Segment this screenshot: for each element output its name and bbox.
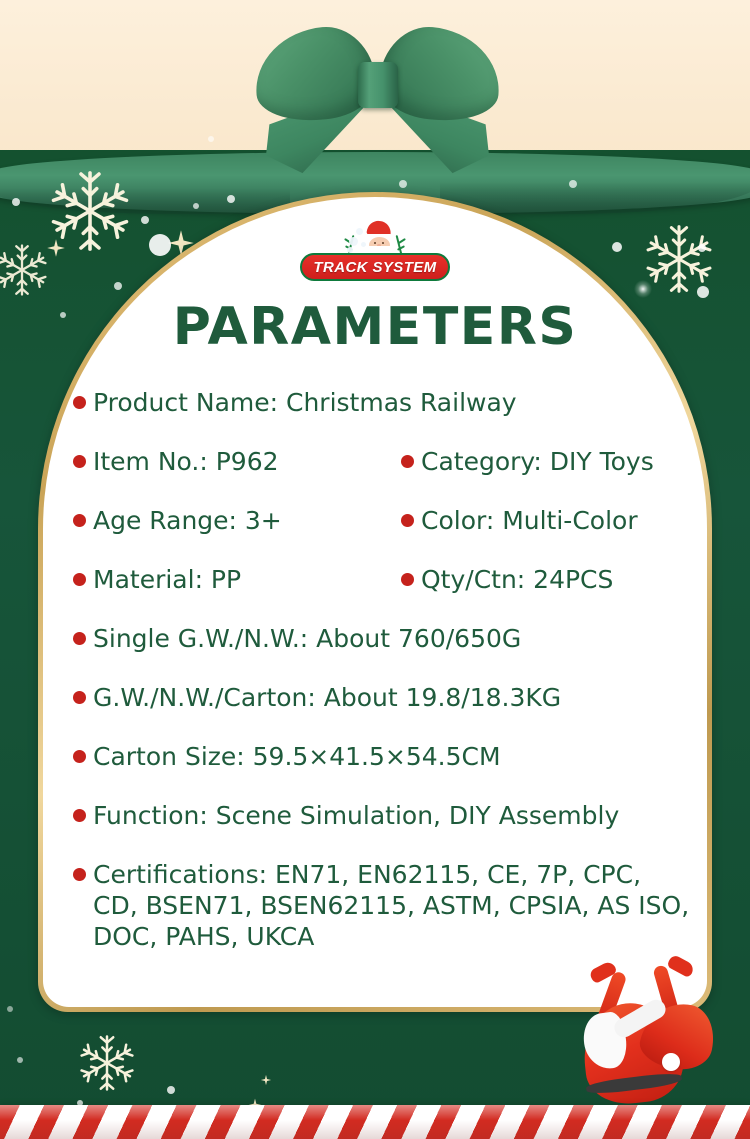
santa-hat-pompom [662, 1053, 680, 1071]
bullet-icon [401, 514, 414, 527]
parameter-item-left: Age Range: 3+ [73, 505, 282, 536]
parameter-row: G.W./N.W./Carton: About 19.8/18.3KG [43, 682, 707, 741]
bullet-icon [73, 868, 86, 881]
parameters-list: Product Name: Christmas RailwayItem No.:… [43, 387, 707, 877]
bullet-icon [73, 691, 86, 704]
santa-eye-right [382, 242, 384, 244]
product-parameters-infographic: TRACK SYSTEM PARAMETERS Product Name: Ch… [0, 0, 750, 1139]
gift-ribbon-bow-icon [255, 18, 500, 168]
parameter-item-left: Carton Size: 59.5×41.5×54.5CM [73, 741, 691, 772]
parameter-text: Material: PP [93, 564, 241, 595]
logo-banner: TRACK SYSTEM [300, 253, 450, 281]
bullet-icon [401, 455, 414, 468]
parameter-row: Carton Size: 59.5×41.5×54.5CM [43, 741, 707, 800]
parameter-item-left: Function: Scene Simulation, DIY Assembly [73, 800, 691, 831]
page-title: PARAMETERS [43, 297, 707, 357]
parameter-row: Product Name: Christmas Railway [43, 387, 707, 446]
parameter-text: Qty/Ctn: 24PCS [421, 564, 613, 595]
bullet-icon [73, 632, 86, 645]
parameter-item-left: Item No.: P962 [73, 446, 279, 477]
parameters-card: TRACK SYSTEM PARAMETERS Product Name: Ch… [38, 192, 712, 1012]
parameter-row: Material: PPQty/Ctn: 24PCS [43, 564, 707, 623]
santa-hat-pompom [388, 220, 395, 227]
parameter-item-left: G.W./N.W./Carton: About 19.8/18.3KG [73, 682, 691, 713]
parameter-item-left: Certifications: EN71, EN62115, CE, 7P, C… [73, 859, 691, 952]
bullet-icon [73, 750, 86, 763]
logo-banner-text: TRACK SYSTEM [313, 259, 436, 276]
parameter-text: Certifications: EN71, EN62115, CE, 7P, C… [93, 859, 691, 952]
parameter-item-right: Qty/Ctn: 24PCS [401, 564, 613, 595]
parameter-item-right: Color: Multi-Color [401, 505, 638, 536]
santa-upside-down-icon [556, 985, 716, 1110]
santa-eye-left [374, 242, 376, 244]
parameter-text: Item No.: P962 [93, 446, 279, 477]
parameter-text: Single G.W./N.W.: About 760/650G [93, 623, 521, 654]
brand-logo: TRACK SYSTEM [300, 219, 450, 281]
parameter-text: Age Range: 3+ [93, 505, 282, 536]
bow-knot [358, 62, 398, 108]
parameter-row: Age Range: 3+Color: Multi-Color [43, 505, 707, 564]
parameter-text: Product Name: Christmas Railway [93, 387, 517, 418]
parameter-row: Certifications: EN71, EN62115, CE, 7P, C… [43, 859, 707, 877]
bullet-icon [73, 455, 86, 468]
bullet-icon [73, 514, 86, 527]
parameter-item-left: Product Name: Christmas Railway [73, 387, 691, 418]
parameter-text: Function: Scene Simulation, DIY Assembly [93, 800, 619, 831]
parameter-row: Item No.: P962Category: DIY Toys [43, 446, 707, 505]
parameter-text: Category: DIY Toys [421, 446, 654, 477]
bullet-icon [401, 573, 414, 586]
parameter-item-left: Single G.W./N.W.: About 760/650G [73, 623, 691, 654]
bullet-icon [73, 809, 86, 822]
parameter-text: G.W./N.W./Carton: About 19.8/18.3KG [93, 682, 561, 713]
bullet-icon [73, 573, 86, 586]
parameter-text: Carton Size: 59.5×41.5×54.5CM [93, 741, 501, 772]
parameter-item-right: Category: DIY Toys [401, 446, 654, 477]
bullet-icon [73, 396, 86, 409]
parameter-item-left: Material: PP [73, 564, 241, 595]
parameter-row: Function: Scene Simulation, DIY Assembly [43, 800, 707, 859]
candy-cane-sheen [0, 1105, 750, 1139]
parameter-text: Color: Multi-Color [421, 505, 638, 536]
card-white-panel: TRACK SYSTEM PARAMETERS Product Name: Ch… [43, 197, 707, 1007]
parameter-row: Single G.W./N.W.: About 760/650G [43, 623, 707, 682]
